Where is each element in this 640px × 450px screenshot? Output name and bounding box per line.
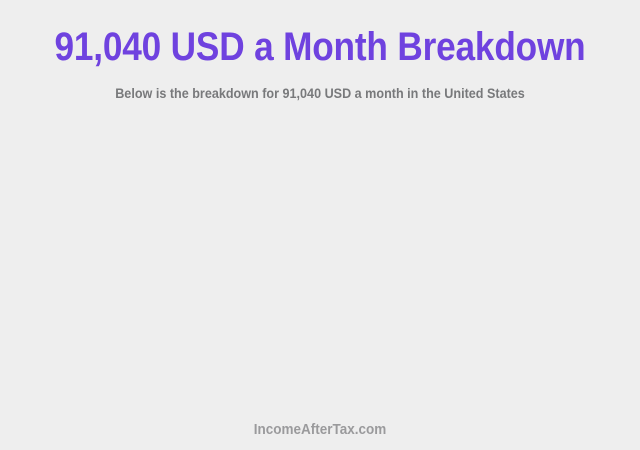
chart-plot-area — [0, 118, 640, 410]
breakdown-page: 91,040 USD a Month Breakdown Below is th… — [0, 0, 640, 450]
site-credit: IncomeAfterTax.com — [32, 420, 608, 440]
page-subtitle: Below is the breakdown for 91,040 USD a … — [32, 70, 608, 102]
page-title: 91,040 USD a Month Breakdown — [38, 24, 601, 70]
page-header: 91,040 USD a Month Breakdown Below is th… — [0, 0, 640, 102]
page-footer: IncomeAfterTax.com — [0, 420, 640, 440]
